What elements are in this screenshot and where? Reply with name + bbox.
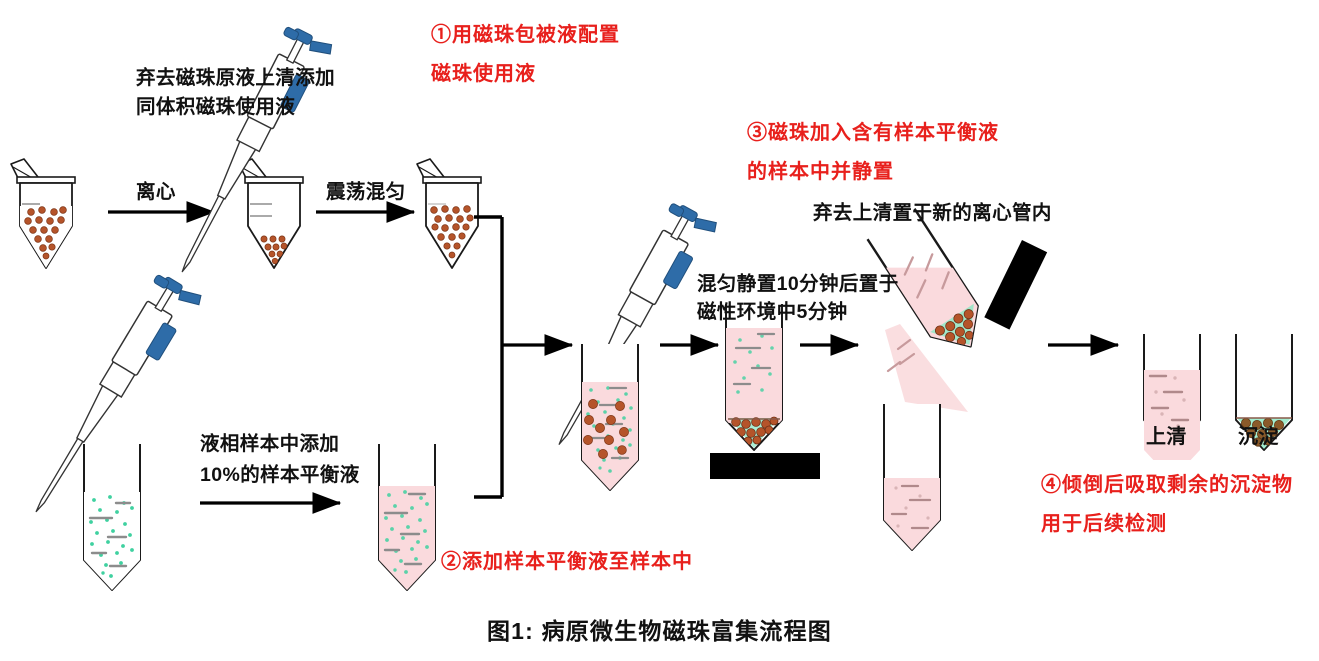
label-add-equilibration-line1: 液相样本中添加 [200, 432, 339, 458]
vessel-eppendorf-pelleted [239, 159, 303, 268]
vessel-falcon-receiving [884, 404, 940, 558]
vessel-eppendorf-resuspended [417, 159, 481, 268]
annotation-step-1-line2: 磁珠使用液 [431, 61, 536, 87]
magnet-icon-flat [710, 453, 820, 479]
label-supernatant: 上清 [1146, 424, 1187, 450]
annotation-step-4-line2: 用于后续检测 [1041, 511, 1167, 537]
annotation-step-4-line1: ④倾倒后吸取剩余的沉淀物 [1041, 472, 1293, 498]
pipette-icon-top [166, 23, 334, 287]
annotation-step-2: ②添加样本平衡液至样本中 [441, 549, 693, 575]
annotation-step-3-line2: 的样本中并静置 [747, 159, 894, 185]
label-precipitate: 沉淀 [1238, 424, 1279, 450]
vessel-eppendorf-stock [11, 159, 75, 268]
figure-caption: 图1: 病原微生物磁珠富集流程图 [0, 612, 1319, 646]
vessel-falcon-mixed [582, 344, 638, 497]
label-discard-to-new-tube: 弃去上清置于新的离心管内 [813, 201, 1052, 227]
annotation-step-3-line1: ③磁珠加入含有样本平衡液 [747, 120, 999, 146]
label-mix-stand-line2: 磁性环境中5分钟 [697, 300, 848, 326]
label-centrifuge: 离心 [136, 180, 176, 206]
magnet-icon-angled [984, 240, 1047, 330]
label-discard-add-line1: 弃去磁珠原液上清添加 [136, 66, 335, 92]
label-vortex-mix: 震荡混匀 [326, 180, 406, 206]
vessel-falcon-sample [84, 444, 140, 592]
merge-bracket [474, 217, 502, 497]
pipette-icon-middle [543, 199, 719, 460]
flowchart-figure: ①用磁珠包被液配置 磁珠使用液 弃去磁珠原液上清添加 同体积磁珠使用液 离心 震… [0, 0, 1319, 661]
vessel-falcon-sample-pink [379, 444, 435, 596]
annotation-step-1-line1: ①用磁珠包被液配置 [431, 22, 620, 48]
label-mix-stand-line1: 混匀静置10分钟后置于 [697, 272, 899, 298]
label-discard-add-line2: 同体积磁珠使用液 [136, 95, 295, 121]
label-add-equilibration-line2: 10%的样本平衡液 [200, 463, 360, 489]
vessel-falcon-magnet [710, 304, 820, 479]
pipette-icon-bottom [21, 271, 204, 529]
